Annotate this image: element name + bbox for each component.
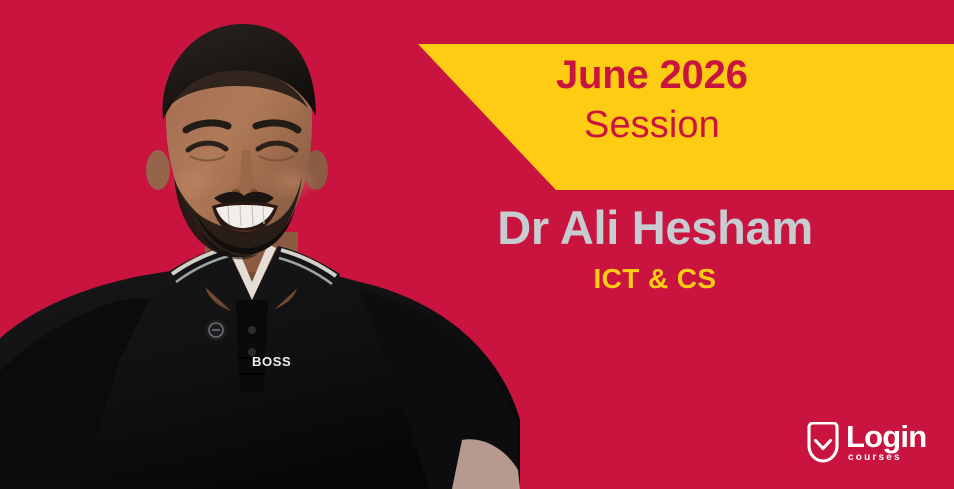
presenter-subject: ICT & CS (420, 262, 890, 296)
promo-banner: BOSS (0, 0, 954, 489)
shield-outline (809, 423, 837, 461)
shirt-brand-text: BOSS (252, 354, 291, 369)
session-month-year: June 2026 (556, 52, 916, 98)
chevron-down-path (816, 441, 831, 449)
session-label: Session (584, 102, 916, 148)
logo-text-group: Login courses (846, 420, 942, 464)
logo-wordmark: Login (846, 420, 942, 453)
presenter-info: Dr Ali Hesham ICT & CS (420, 200, 890, 296)
logo-tagline: courses (848, 452, 942, 464)
login-courses-logo[interactable]: Login courses (806, 420, 942, 472)
shield-chevron-icon (806, 422, 840, 464)
presenter-name: Dr Ali Hesham (420, 200, 890, 256)
ribbon-text-group: June 2026 Session (556, 52, 916, 148)
